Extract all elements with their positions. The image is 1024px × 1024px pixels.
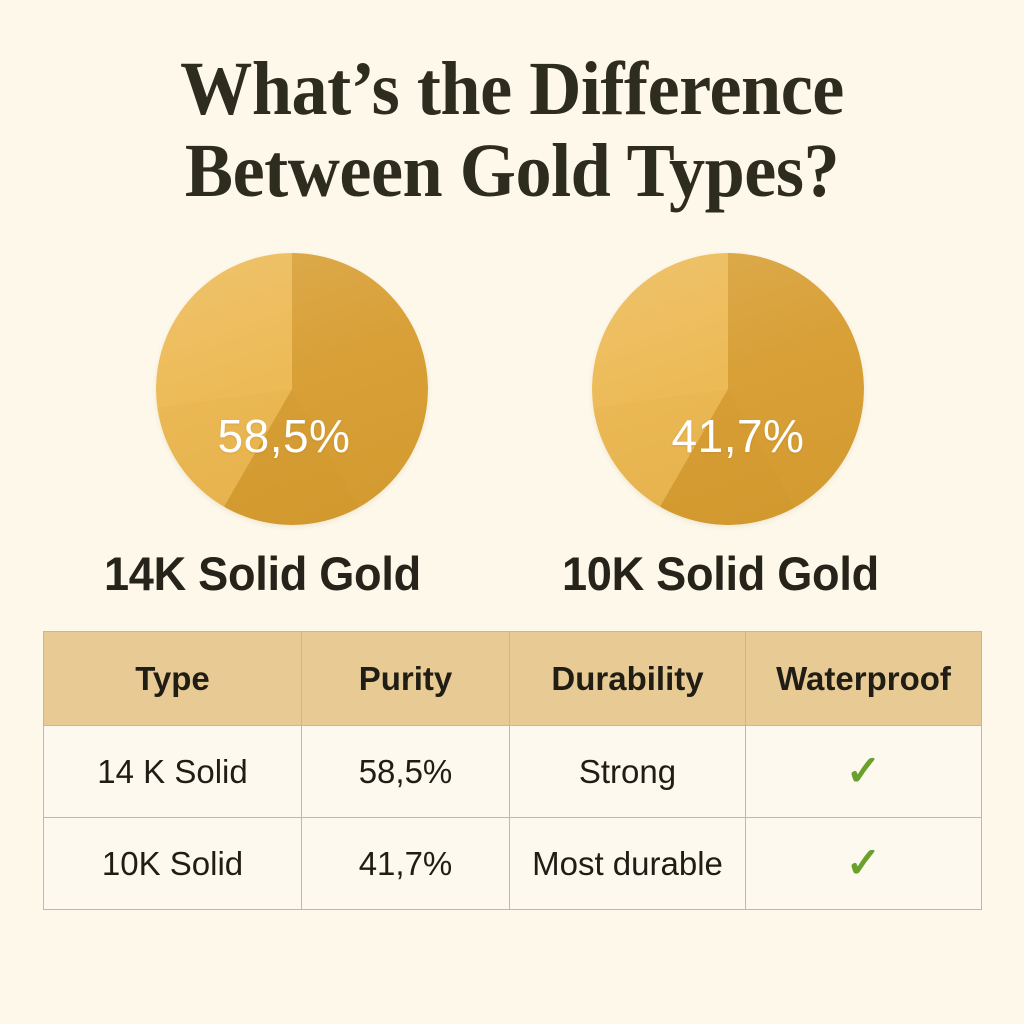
table-header-type: Type	[44, 632, 302, 726]
table-header-row: Type Purity Durability Waterproof	[44, 632, 982, 726]
comparison-table: Type Purity Durability Waterproof 14 K S…	[43, 631, 982, 910]
pie-14k-value-label: 58,5%	[148, 409, 420, 463]
cell-waterproof: ✓	[746, 818, 982, 910]
cell-waterproof: ✓	[746, 726, 982, 818]
table-header-purity: Purity	[302, 632, 510, 726]
pie-10k-slices	[592, 253, 864, 525]
cell-type: 14 K Solid	[44, 726, 302, 818]
pie-chart-14k-graphic	[156, 253, 428, 525]
page-title-line-2: Between Gold Types?	[26, 130, 999, 212]
cell-purity: 58,5%	[302, 726, 510, 818]
gold-types-infographic: What’s the Difference Between Gold Types…	[0, 0, 1024, 1024]
table-header-durability: Durability	[510, 632, 746, 726]
check-icon: ✓	[846, 842, 881, 884]
pie-chart-row: 58,5% 41,7%	[0, 253, 1024, 533]
table-header-waterproof: Waterproof	[746, 632, 982, 726]
page-title-line-1: What’s the Difference	[26, 48, 999, 130]
pie-caption-10k: 10K Solid Gold	[562, 546, 879, 601]
cell-purity: 41,7%	[302, 818, 510, 910]
table-row: 10K Solid 41,7% Most durable ✓	[44, 818, 982, 910]
cell-durability: Most durable	[510, 818, 746, 910]
pie-10k-value-label: 41,7%	[602, 409, 874, 463]
pie-caption-14k: 14K Solid Gold	[104, 546, 421, 601]
cell-durability: Strong	[510, 726, 746, 818]
pie-14k-slices	[156, 253, 428, 525]
page-title: What’s the Difference Between Gold Types…	[0, 48, 1024, 212]
cell-type: 10K Solid	[44, 818, 302, 910]
check-icon: ✓	[846, 750, 881, 792]
table-row: 14 K Solid 58,5% Strong ✓	[44, 726, 982, 818]
pie-chart-14k: 58,5%	[156, 253, 428, 525]
pie-chart-10k: 41,7%	[592, 253, 864, 525]
pie-chart-10k-graphic	[592, 253, 864, 525]
